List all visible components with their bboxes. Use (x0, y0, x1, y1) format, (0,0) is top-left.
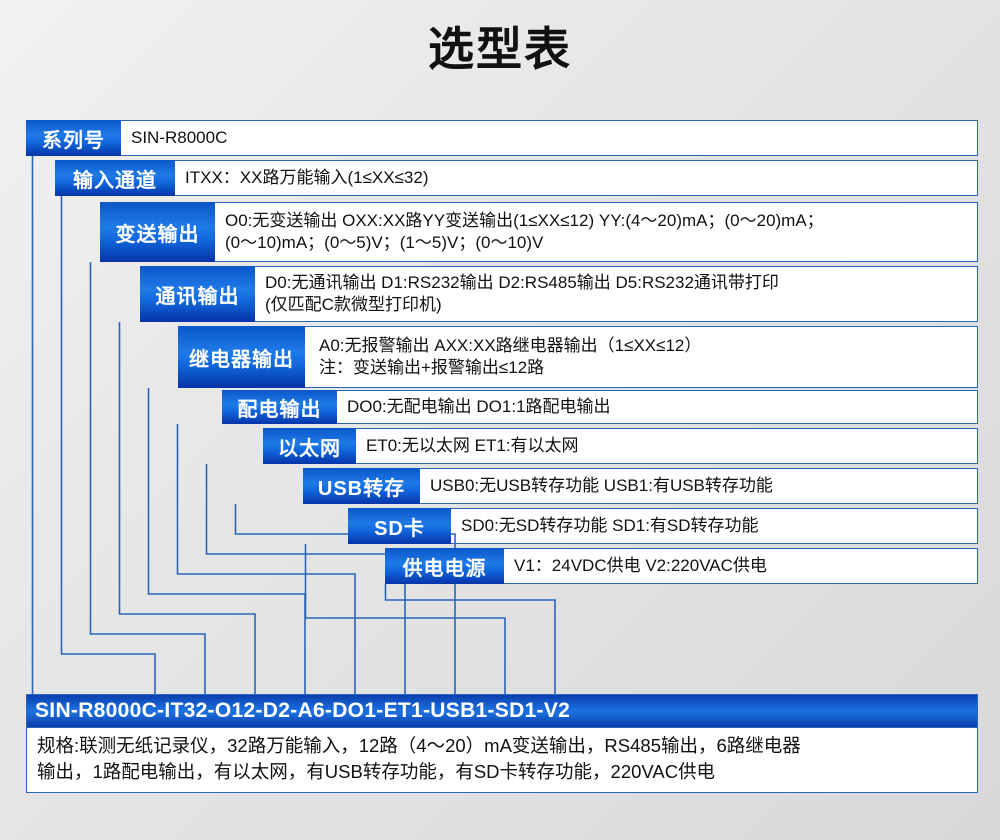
row-value-transmit-output: O0:无变送输出 OXX:XX路YY变送输出(1≤XX≤12) YY:(4～20… (215, 202, 978, 262)
row-value-comm-output: D0:无通讯输出 D1:RS232输出 D2:RS485输出 D5:RS232通… (255, 266, 978, 322)
result-spec-line: 规格:联测无纸记录仪，32路万能输入，12路（4～20）mA变送输出，RS485… (37, 733, 967, 759)
row-value-usb: USB0:无USB转存功能 USB1:有USB转存功能 (420, 468, 978, 504)
row-value-ethernet: ET0:无以太网 ET1:有以太网 (356, 428, 978, 464)
spec-row-usb: USB转存 USB0:无USB转存功能 USB1:有USB转存功能 (303, 468, 978, 504)
row-value-line: 注：变送输出+报警输出≤12路 (319, 357, 977, 379)
result-block: SIN-R8000C-IT32-O12-D2-A6-DO1-ET1-USB1-S… (26, 694, 978, 793)
row-value-line: D0:无通讯输出 D1:RS232输出 D2:RS485输出 D5:RS232通… (265, 272, 977, 294)
row-value-line: USB0:无USB转存功能 USB1:有USB转存功能 (430, 475, 977, 497)
row-label-ethernet[interactable]: 以太网 (263, 428, 356, 464)
result-specification: 规格:联测无纸记录仪，32路万能输入，12路（4～20）mA变送输出，RS485… (26, 728, 978, 793)
result-model-code: SIN-R8000C-IT32-O12-D2-A6-DO1-ET1-USB1-S… (26, 694, 978, 728)
spec-row-comm-output: 通讯输出 D0:无通讯输出 D1:RS232输出 D2:RS485输出 D5:R… (140, 266, 978, 322)
row-value-sd-card: SD0:无SD转存功能 SD1:有SD转存功能 (451, 508, 978, 544)
row-value-line: SIN-R8000C (131, 127, 977, 149)
row-value-line: DO0:无配电输出 DO1:1路配电输出 (347, 396, 977, 418)
row-value-series: SIN-R8000C (121, 120, 978, 156)
row-value-line: (0～10)mA；(0～5)V；(1～5)V；(0～10)V (225, 232, 977, 254)
row-label-power-distribution[interactable]: 配电输出 (222, 390, 337, 424)
row-value-line: SD0:无SD转存功能 SD1:有SD转存功能 (461, 515, 977, 537)
row-value-relay-output: A0:无报警输出 AXX:XX路继电器输出（1≤XX≤12） 注：变送输出+报警… (305, 326, 978, 388)
row-label-transmit-output[interactable]: 变送输出 (100, 202, 215, 262)
row-value-line: (仅匹配C款微型打印机) (265, 294, 977, 316)
spec-row-power-supply: 供电电源 V1：24VDC供电 V2:220VAC供电 (385, 548, 978, 584)
row-label-series[interactable]: 系列号 (26, 120, 121, 156)
spec-row-input-channel: 输入通道 ITXX：XX路万能输入(1≤XX≤32) (55, 160, 978, 196)
spec-row-power-distribution: 配电输出 DO0:无配电输出 DO1:1路配电输出 (222, 390, 978, 424)
row-label-comm-output[interactable]: 通讯输出 (140, 266, 255, 322)
row-value-line: A0:无报警输出 AXX:XX路继电器输出（1≤XX≤12） (319, 335, 977, 357)
row-value-power-distribution: DO0:无配电输出 DO1:1路配电输出 (337, 390, 978, 424)
spec-row-ethernet: 以太网 ET0:无以太网 ET1:有以太网 (263, 428, 978, 464)
row-label-usb[interactable]: USB转存 (303, 468, 420, 504)
row-label-relay-output[interactable]: 继电器输出 (178, 326, 305, 388)
row-value-line: ET0:无以太网 ET1:有以太网 (366, 435, 977, 457)
result-spec-line: 输出，1路配电输出，有以太网，有USB转存功能，有SD卡转存功能，220VAC供… (37, 759, 967, 785)
row-value-input-channel: ITXX：XX路万能输入(1≤XX≤32) (175, 160, 978, 196)
spec-row-series: 系列号 SIN-R8000C (26, 120, 978, 156)
row-value-line: ITXX：XX路万能输入(1≤XX≤32) (185, 167, 977, 189)
page-title: 选型表 (0, 24, 1000, 75)
spec-row-sd-card: SD卡 SD0:无SD转存功能 SD1:有SD转存功能 (348, 508, 978, 544)
spec-row-transmit-output: 变送输出 O0:无变送输出 OXX:XX路YY变送输出(1≤XX≤12) YY:… (100, 202, 978, 262)
row-value-line: O0:无变送输出 OXX:XX路YY变送输出(1≤XX≤12) YY:(4～20… (225, 210, 977, 232)
spec-row-relay-output: 继电器输出 A0:无报警输出 AXX:XX路继电器输出（1≤XX≤12） 注：变… (178, 326, 978, 388)
row-value-power-supply: V1：24VDC供电 V2:220VAC供电 (504, 548, 978, 584)
row-label-power-supply[interactable]: 供电电源 (385, 548, 504, 584)
row-label-sd-card[interactable]: SD卡 (348, 508, 451, 544)
row-value-line: V1：24VDC供电 V2:220VAC供电 (514, 555, 977, 577)
row-label-input-channel[interactable]: 输入通道 (55, 160, 175, 196)
